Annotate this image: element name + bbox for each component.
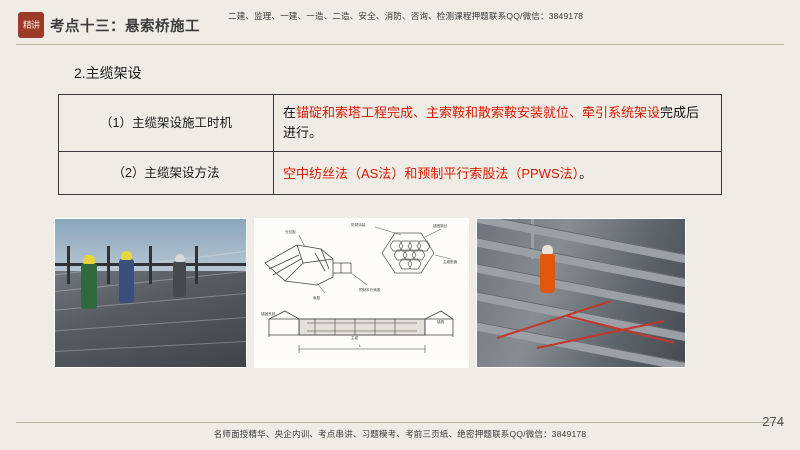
- svg-text:防锈涂装: 防锈涂装: [351, 222, 366, 227]
- svg-text:主缆断面: 主缆断面: [443, 259, 458, 264]
- worker-figure: [540, 253, 555, 293]
- page-number: 274: [762, 414, 784, 429]
- svg-text:锚具: 锚具: [437, 319, 445, 324]
- photo-bridge-deck-workers: [54, 218, 247, 368]
- photo-worker-on-main-cable: [476, 218, 686, 368]
- table-row: （1）主缆架设施工时机 在锚碇和索塔工程完成、主索鞍和散索鞍安装就位、牵引系统架…: [59, 95, 722, 152]
- header-promo-text: 二建、监理、一建、一造、二造、安全、消防、咨询、检测课程押题联系QQ/微信：38…: [228, 10, 583, 22]
- table-cell-label: （2）主缆架设方法: [59, 152, 274, 195]
- table-cell-label: （1）主缆架设施工时机: [59, 95, 274, 152]
- helmet-icon: [542, 245, 553, 254]
- helmet-icon: [83, 255, 95, 264]
- svg-text:分丝板: 分丝板: [285, 229, 296, 234]
- rail-post: [149, 246, 152, 284]
- worker-figure: [81, 263, 97, 309]
- svg-text:主缆: 主缆: [351, 335, 359, 340]
- svg-text:索股: 索股: [313, 295, 321, 300]
- text-segment-highlight: 锚碇和索塔工程完成、主索鞍和散索鞍安装就位、牵引系统架设: [296, 105, 660, 120]
- svg-text:预制平行索股: 预制平行索股: [359, 287, 381, 292]
- figure-row: 防锈涂装 锚固钢丝 主缆断面 分丝板 索股 预制平行索股 锚固系统 锚具 主缆: [54, 218, 686, 368]
- schematic-drawing: 防锈涂装 锚固钢丝 主缆断面 分丝板 索股 预制平行索股 锚固系统 锚具 主缆: [255, 219, 468, 367]
- table-cell-body: 在锚碇和索塔工程完成、主索鞍和散索鞍安装就位、牵引系统架设完成后进行。: [274, 95, 722, 152]
- rail-post: [195, 246, 198, 284]
- text-segment: 。: [579, 166, 592, 181]
- helmet-icon: [121, 251, 132, 260]
- table-row: （2）主缆架设方法 空中纺丝法（AS法）和预制平行索股法（PPWS法）。: [59, 152, 722, 195]
- header-divider: [16, 44, 784, 45]
- footer-divider: [16, 422, 784, 423]
- page-title: 考点十三：悬索桥施工: [50, 15, 200, 36]
- text-segment: 在: [283, 105, 296, 120]
- diagram-cable-anchor-section: 防锈涂装 锚固钢丝 主缆断面 分丝板 索股 预制平行索股 锚固系统 锚具 主缆: [254, 218, 469, 368]
- svg-text:锚固钢丝: 锚固钢丝: [433, 223, 448, 228]
- rail-post: [67, 246, 70, 284]
- content-table: （1）主缆架设施工时机 在锚碇和索塔工程完成、主索鞍和散索鞍安装就位、牵引系统架…: [58, 94, 722, 195]
- helmet-icon: [175, 254, 185, 262]
- rail-post: [107, 246, 110, 284]
- worker-figure: [119, 259, 134, 303]
- brand-logo: 精讲: [18, 12, 44, 38]
- worker-figure: [173, 261, 186, 297]
- text-segment-highlight: 空中纺丝法（AS法）和预制平行索股法（PPWS法）: [283, 166, 579, 181]
- slide-header: 精讲 考点十三：悬索桥施工 二建、监理、一建、一造、二造、安全、消防、咨询、检测…: [0, 0, 800, 48]
- footer-promo-text: 名师面授精华、央企内训、考点串讲、习题模考、考前三页纸、绝密押题联系QQ/微信：…: [0, 428, 800, 440]
- svg-text:锚固系统: 锚固系统: [261, 311, 276, 316]
- table-cell-body: 空中纺丝法（AS法）和预制平行索股法（PPWS法）。: [274, 152, 722, 195]
- section-heading: 2.主缆架设: [74, 63, 142, 83]
